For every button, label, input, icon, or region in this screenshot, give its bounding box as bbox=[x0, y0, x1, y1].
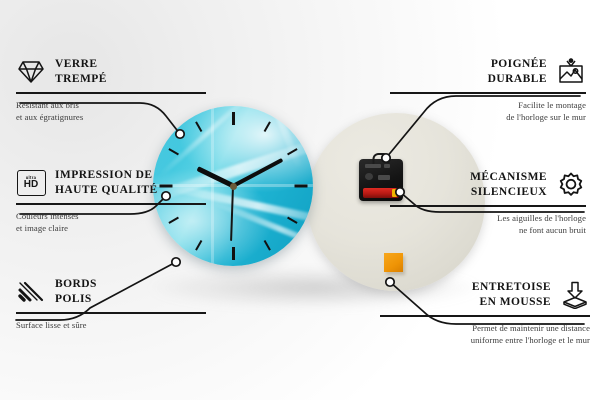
desc-line-1: Les aiguilles de l'horloge bbox=[390, 212, 586, 224]
title-line-1: IMPRESSION DE bbox=[55, 168, 158, 183]
divider-rule bbox=[390, 92, 586, 94]
desc-line-2: de l'horloge sur le mur bbox=[390, 111, 586, 123]
infographic-canvas: VERRE TREMPÉ Résistant aux bris et aux é… bbox=[0, 0, 600, 400]
ultra-hd-icon: ultra HD bbox=[16, 168, 46, 198]
hanging-frame-icon bbox=[556, 57, 586, 87]
title-line-2: DURABLE bbox=[488, 72, 547, 87]
hd-badge-large-text: HD bbox=[24, 180, 38, 190]
desc-line-2: ne font aucun bruit bbox=[390, 224, 586, 236]
title-line-1: BORDS bbox=[55, 277, 97, 292]
desc-line-2: et aux égratignures bbox=[16, 111, 206, 123]
desc-line-1: Facilite le montage bbox=[390, 99, 586, 111]
title-line-2: EN MOUSSE bbox=[472, 295, 551, 310]
mechanism-detail bbox=[365, 164, 381, 168]
divider-rule bbox=[380, 315, 590, 317]
feature-impression-haute-qualite: ultra HD IMPRESSION DE HAUTE QUALITÉ Cou… bbox=[16, 168, 206, 235]
feature-description: Facilite le montage de l'horloge sur le … bbox=[390, 99, 586, 124]
feature-description: Couleurs intenses et image claire bbox=[16, 210, 206, 235]
feature-title: ENTRETOISE EN MOUSSE bbox=[472, 280, 551, 309]
clock-tick bbox=[232, 112, 235, 125]
diamond-icon bbox=[16, 57, 46, 87]
clock-tick bbox=[264, 240, 271, 251]
mechanism-detail bbox=[378, 175, 390, 180]
feature-title: POIGNÉE DURABLE bbox=[488, 57, 547, 86]
foam-spacer-icon bbox=[560, 280, 590, 310]
feature-description: Surface lisse et sûre bbox=[16, 319, 206, 331]
title-line-1: POIGNÉE bbox=[488, 57, 547, 72]
feature-poignee-durable: POIGNÉE DURABLE Facilite le montage de l… bbox=[390, 57, 586, 124]
feature-mecanisme-silencieux: MÉCANISME SILENCIEUX Les aiguilles de l'… bbox=[390, 170, 586, 237]
feature-bords-polis: BORDS POLIS Surface lisse et sûre bbox=[16, 277, 206, 331]
feature-description: Les aiguilles de l'horloge ne font aucun… bbox=[390, 212, 586, 237]
divider-rule bbox=[16, 312, 206, 314]
desc-line-1: Résistant aux bris bbox=[16, 99, 206, 111]
feature-description: Permet de maintenir une distance uniform… bbox=[380, 322, 590, 347]
feature-verre-trempe: VERRE TREMPÉ Résistant aux bris et aux é… bbox=[16, 57, 206, 124]
desc-line-1: Surface lisse et sûre bbox=[16, 319, 206, 331]
clock-tick bbox=[294, 185, 307, 188]
clock-center-hub bbox=[230, 183, 237, 190]
title-line-2: HAUTE QUALITÉ bbox=[55, 183, 158, 198]
divider-rule bbox=[16, 203, 206, 205]
mechanism-detail bbox=[384, 164, 390, 168]
divider-rule bbox=[16, 92, 206, 94]
feature-title: IMPRESSION DE HAUTE QUALITÉ bbox=[55, 168, 158, 197]
desc-line-2: uniforme entre l'horloge et le mur bbox=[380, 334, 590, 346]
title-line-1: MÉCANISME bbox=[470, 170, 547, 185]
clock-tick bbox=[232, 247, 235, 260]
desc-line-1: Couleurs intenses bbox=[16, 210, 206, 222]
title-line-2: POLIS bbox=[55, 292, 97, 307]
foam-spacer-pad bbox=[384, 253, 403, 272]
mechanism-detail bbox=[365, 173, 373, 180]
feature-title: VERRE TREMPÉ bbox=[55, 57, 107, 86]
desc-line-2: et image claire bbox=[16, 222, 206, 234]
title-line-1: VERRE bbox=[55, 57, 107, 72]
title-line-2: SILENCIEUX bbox=[470, 185, 547, 200]
gear-icon bbox=[556, 170, 586, 200]
feature-description: Résistant aux bris et aux égratignures bbox=[16, 99, 206, 124]
feature-title: BORDS POLIS bbox=[55, 277, 97, 306]
desc-line-1: Permet de maintenir une distance bbox=[380, 322, 590, 334]
feature-title: MÉCANISME SILENCIEUX bbox=[470, 170, 547, 199]
divider-rule bbox=[390, 205, 586, 207]
feature-entretoise-en-mousse: ENTRETOISE EN MOUSSE Permet de maintenir… bbox=[380, 280, 590, 347]
title-line-2: TREMPÉ bbox=[55, 72, 107, 87]
polished-edges-icon bbox=[16, 277, 46, 307]
title-line-1: ENTRETOISE bbox=[472, 280, 551, 295]
